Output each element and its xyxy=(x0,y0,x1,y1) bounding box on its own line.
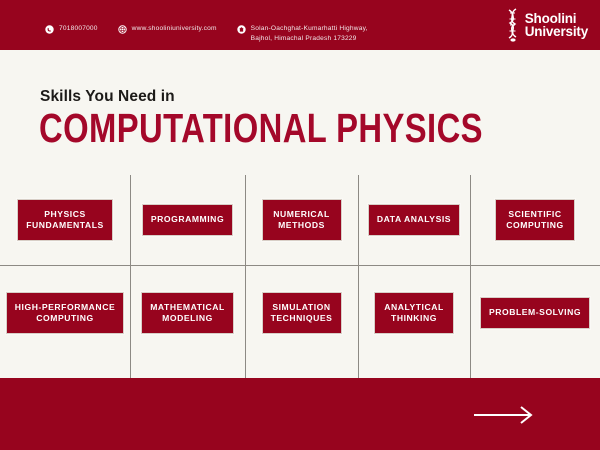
grid-divider-vertical xyxy=(470,175,471,378)
skill-cell[interactable]: PROGRAMMING xyxy=(132,175,243,265)
skill-chip[interactable]: PROBLEM-SOLVING xyxy=(480,297,590,328)
footer-contact-list: 7018007000 www.shooliniuniversity.com So… xyxy=(45,24,368,44)
skill-cell[interactable]: DATA ANALYSIS xyxy=(360,175,468,265)
skill-cell[interactable]: PROBLEM-SOLVING xyxy=(472,268,598,358)
phone-circle-icon xyxy=(45,25,54,34)
skill-chip[interactable]: HIGH-PERFORMANCE COMPUTING xyxy=(6,292,124,335)
dna-helix-icon xyxy=(505,8,521,42)
grid-divider-vertical xyxy=(130,175,131,378)
shoolini-university-logo: Shoolini University xyxy=(505,8,588,42)
skill-cell[interactable]: SCIENTIFIC COMPUTING xyxy=(472,175,598,265)
arrow-right-icon[interactable] xyxy=(474,406,536,424)
footer-contact-website[interactable]: www.shooliniuniversity.com xyxy=(118,24,217,34)
footer-phone-text: 7018007000 xyxy=(59,24,98,34)
grid-divider-horizontal xyxy=(0,265,600,266)
poster-canvas: Shoolini University Skills You Need in C… xyxy=(0,0,600,450)
skill-chip[interactable]: SCIENTIFIC COMPUTING xyxy=(495,199,575,242)
logo-line-2: University xyxy=(525,25,588,39)
skill-chip[interactable]: SIMULATION TECHNIQUES xyxy=(262,292,342,335)
home-pin-icon xyxy=(237,25,246,34)
footer-website-text: www.shooliniuniversity.com xyxy=(132,24,217,34)
skill-chip[interactable]: PROGRAMMING xyxy=(142,204,233,235)
skill-cell[interactable]: MATHEMATICAL MODELING xyxy=(132,268,243,358)
skill-cell[interactable]: PHYSICS FUNDAMENTALS xyxy=(2,175,128,265)
footer-contact-address[interactable]: Solan-Oachghat-Kumarhatti Highway, Bajho… xyxy=(237,24,368,44)
skill-chip[interactable]: PHYSICS FUNDAMENTALS xyxy=(17,199,113,242)
skills-grid: PHYSICS FUNDAMENTALS PROGRAMMING NUMERIC… xyxy=(0,175,600,378)
skill-cell[interactable]: ANALYTICAL THINKING xyxy=(360,268,468,358)
page-title: COMPUTATIONAL PHYSICS xyxy=(39,108,483,149)
footer-address-text: Solan-Oachghat-Kumarhatti Highway, Bajho… xyxy=(251,24,368,44)
skill-chip[interactable]: ANALYTICAL THINKING xyxy=(374,292,454,335)
skill-chip[interactable]: NUMERICAL METHODS xyxy=(262,199,342,242)
skill-chip[interactable]: MATHEMATICAL MODELING xyxy=(141,292,234,335)
footer-contact-phone[interactable]: 7018007000 xyxy=(45,24,98,34)
skill-chip[interactable]: DATA ANALYSIS xyxy=(368,204,460,235)
skill-cell[interactable]: SIMULATION TECHNIQUES xyxy=(247,268,356,358)
globe-icon xyxy=(118,25,127,34)
logo-line-1: Shoolini xyxy=(525,12,588,26)
skill-cell[interactable]: HIGH-PERFORMANCE COMPUTING xyxy=(2,268,128,358)
skill-cell[interactable]: NUMERICAL METHODS xyxy=(247,175,356,265)
grid-divider-vertical xyxy=(358,175,359,378)
grid-divider-vertical xyxy=(245,175,246,378)
kicker-text: Skills You Need in xyxy=(40,88,175,106)
logo-wordmark: Shoolini University xyxy=(525,12,588,39)
